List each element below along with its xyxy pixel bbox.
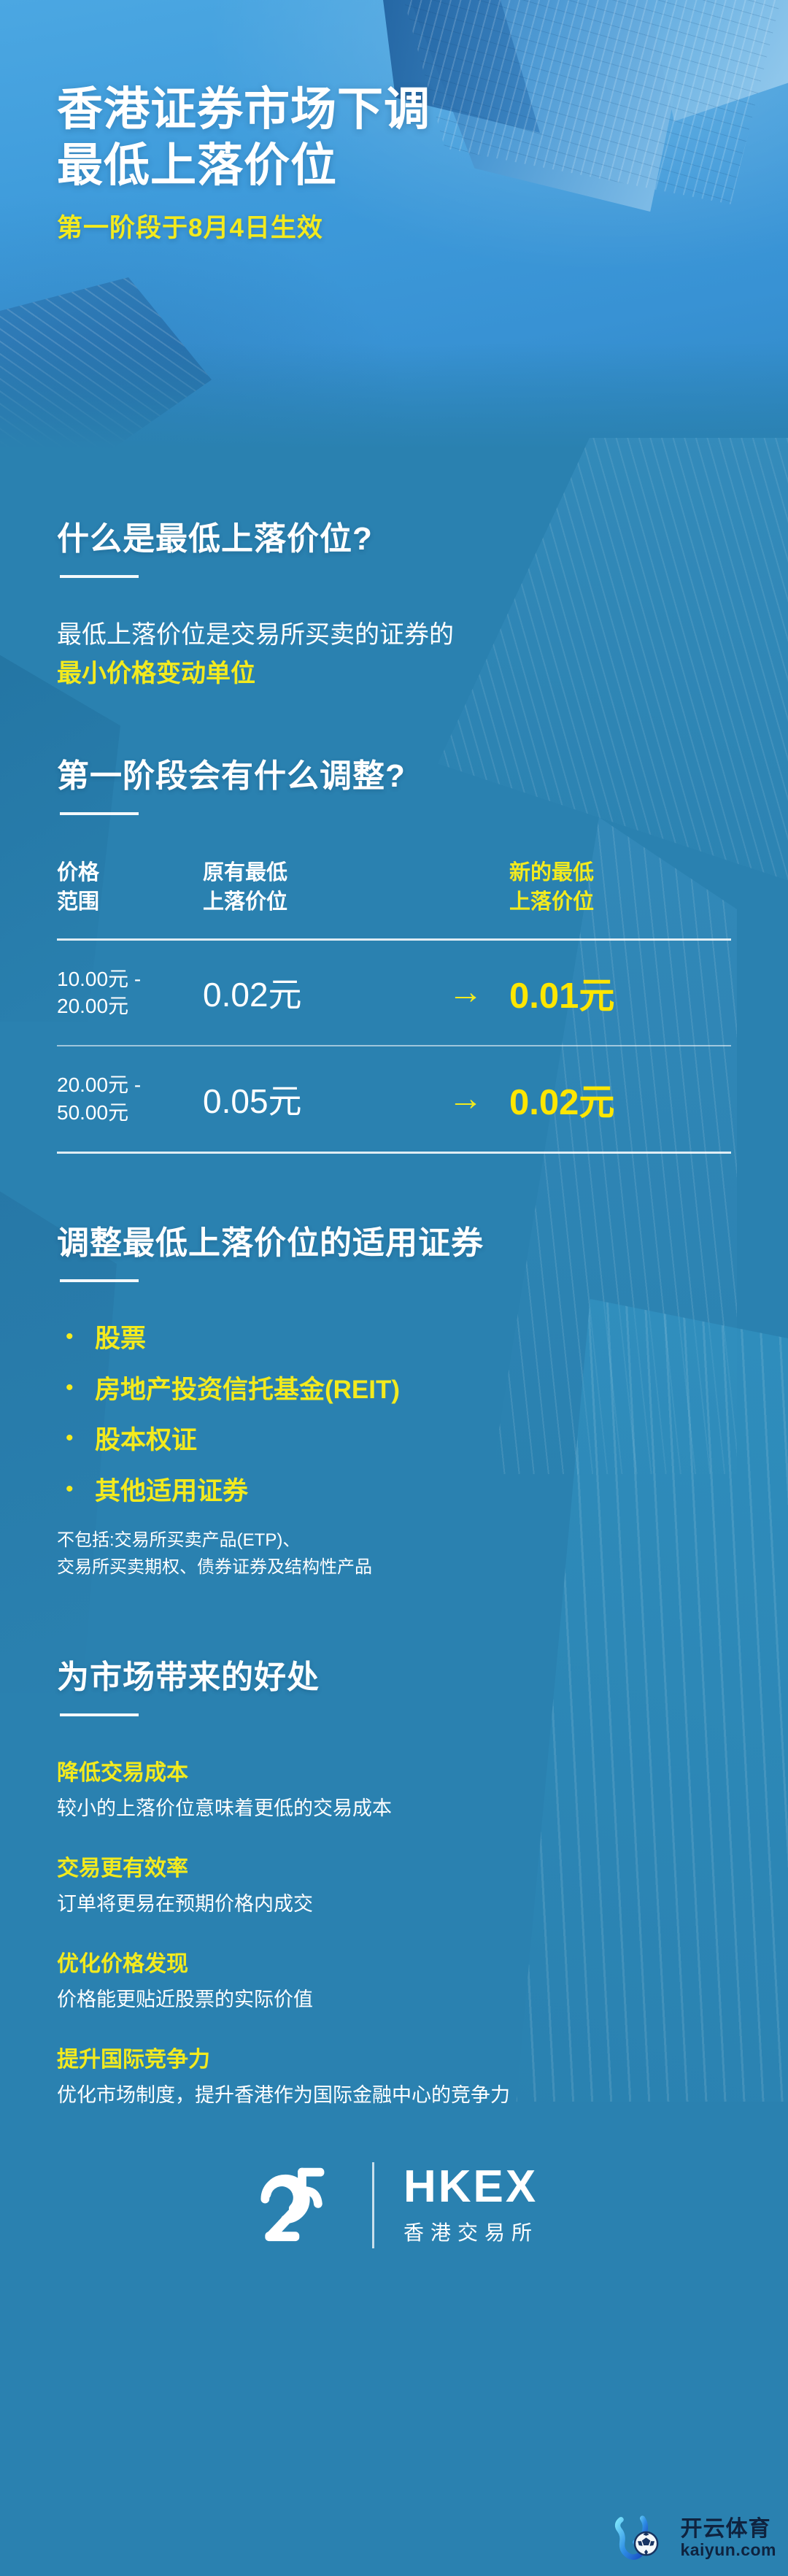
price-adjustment-table: 价格 范围 原有最低 上落价位 新的最低 上落价位 10.00元 - 20.00… — [57, 859, 731, 1153]
col-header-old-line2: 上落价位 — [203, 888, 422, 917]
kaiyun-logo-icon — [611, 2515, 671, 2563]
row-range-line1: 10.00元 - — [57, 965, 203, 993]
exclusion-note: 不包括:交易所买卖产品(ETP)、 交易所买卖期权、债券证券及结构性产品 — [57, 1527, 731, 1581]
exclusion-note-line1: 不包括:交易所买卖产品(ETP)、 — [57, 1527, 731, 1554]
col-header-range-line1: 价格 — [57, 859, 203, 887]
list-item: • 房地产投资信托基金(REIT) — [57, 1374, 731, 1406]
applicable-list: • 股票 • 房地产投资信托基金(REIT) • 股本权证 • 其他适用证券 — [57, 1323, 731, 1508]
bullet-dot-icon: • — [57, 1323, 95, 1351]
row-new-value: 0.02元 — [509, 1073, 731, 1125]
row-range-cell: 10.00元 - 20.00元 — [57, 965, 203, 1021]
arrow-right-icon: → — [448, 1081, 483, 1117]
col-header-range-line2: 范围 — [57, 888, 203, 917]
benefits-list: 降低交易成本 较小的上落价位意味着更低的交易成本 交易更有效率 订单将更易在预期… — [57, 1754, 731, 2108]
benefit-description: 较小的上落价位意味着更低的交易成本 — [57, 1792, 731, 1821]
list-item-label: 其他适用证券 — [95, 1476, 248, 1508]
watermark-brand-cn: 开云体育 — [680, 2518, 776, 2541]
table-row: 20.00元 - 50.00元 0.05元 → 0.02元 — [57, 1046, 731, 1152]
what-is-lead-line1: 最低上落价位是交易所买卖的证券的 — [57, 621, 454, 649]
heading-rule — [60, 1713, 139, 1716]
arrow-right-icon: → — [448, 975, 483, 1010]
row-new-value-cell: 0.02元 — [509, 1073, 731, 1125]
table-col-header-range: 价格 范围 — [57, 859, 203, 916]
benefit-item: 优化价格发现 价格能更贴近股票的实际价值 — [57, 1946, 731, 2012]
benefits-heading: 为市场带来的好处 — [57, 1651, 731, 1697]
list-item-label: 股票 — [95, 1323, 146, 1355]
row-old-value-cell: 0.02元 — [203, 968, 422, 1017]
table-header-row: 价格 范围 原有最低 上落价位 新的最低 上落价位 — [57, 859, 731, 938]
benefit-description: 优化市场制度，提升香港作为国际金融中心的竞争力 — [57, 2079, 731, 2108]
anniversary-25-logo-icon — [250, 2159, 343, 2252]
row-new-value-cell: 0.01元 — [509, 967, 731, 1019]
hkex-brand-cn: 香港交易所 — [403, 2217, 538, 2246]
main-content: 什么是最低上落价位? 最低上落价位是交易所买卖的证券的 最小价格变动单位 第一阶… — [0, 467, 788, 2252]
benefit-title: 优化价格发现 — [57, 1946, 731, 1978]
footer-logo-block: HKEX 香港交易所 — [57, 2159, 731, 2252]
phase-1-heading: 第一阶段会有什么调整? — [57, 749, 731, 796]
row-range-line2: 20.00元 — [57, 992, 203, 1020]
bullet-dot-icon: • — [57, 1476, 95, 1503]
col-header-new-line1: 新的最低 — [509, 859, 731, 887]
list-item-label: 房地产投资信托基金(REIT) — [95, 1374, 400, 1406]
row-arrow-cell: → — [422, 975, 509, 1010]
exclusion-note-line2: 交易所买卖期权、债券证券及结构性产品 — [57, 1554, 731, 1581]
row-old-value-cell: 0.05元 — [203, 1075, 422, 1123]
list-item: • 股票 — [57, 1323, 731, 1355]
col-header-old-line1: 原有最低 — [203, 859, 422, 887]
bullet-dot-icon: • — [57, 1424, 95, 1452]
row-old-value: 0.02元 — [203, 968, 422, 1017]
benefit-title: 降低交易成本 — [57, 1754, 731, 1786]
table-col-header-old: 原有最低 上落价位 — [203, 859, 422, 916]
heading-rule — [60, 812, 139, 815]
list-item: • 股本权证 — [57, 1424, 731, 1457]
watermark-kaiyun: 开云体育 kaiyun.com — [611, 2515, 776, 2563]
benefit-description: 价格能更贴近股票的实际价值 — [57, 1983, 731, 2012]
table-row: 10.00元 - 20.00元 0.02元 → 0.01元 — [57, 941, 731, 1046]
hkex-brand-text: HKEX — [403, 2164, 538, 2210]
section-what-is: 什么是最低上落价位? 最低上落价位是交易所买卖的证券的 最小价格变动单位 — [57, 467, 731, 693]
col-header-new-line2: 上落价位 — [509, 888, 731, 917]
watermark-brand-en: kaiyun.com — [680, 2540, 776, 2560]
bullet-dot-icon: • — [57, 1374, 95, 1402]
what-is-heading: 什么是最低上落价位? — [57, 512, 731, 559]
what-is-lead: 最低上落价位是交易所买卖的证券的 最小价格变动单位 — [57, 616, 731, 693]
applicable-heading: 调整最低上落价位的适用证券 — [57, 1216, 731, 1263]
heading-rule — [60, 1279, 139, 1282]
benefit-item: 交易更有效率 订单将更易在预期价格内成交 — [57, 1850, 731, 1916]
what-is-lead-highlight: 最小价格变动单位 — [57, 655, 731, 693]
list-item: • 其他适用证券 — [57, 1476, 731, 1508]
hero-subtitle: 第一阶段于8月4日生效 — [57, 207, 430, 244]
section-applicable-securities: 调整最低上落价位的适用证券 • 股票 • 房地产投资信托基金(REIT) • 股… — [57, 1154, 731, 1581]
table-col-header-new: 新的最低 上落价位 — [509, 859, 731, 916]
hero-text-block: 香港证券市场下调 最低上落价位 第一阶段于8月4日生效 — [57, 82, 430, 244]
footer-divider — [372, 2162, 374, 2248]
row-range-line2: 50.00元 — [57, 1099, 203, 1127]
watermark-text: 开云体育 kaiyun.com — [680, 2518, 776, 2561]
benefit-description: 订单将更易在预期价格内成交 — [57, 1888, 731, 1916]
row-new-value: 0.01元 — [509, 967, 731, 1019]
heading-rule — [60, 575, 139, 578]
hero-banner: 香港证券市场下调 最低上落价位 第一阶段于8月4日生效 — [0, 0, 788, 467]
hkex-wordmark: HKEX — [403, 2164, 538, 2210]
benefit-item: 降低交易成本 较小的上落价位意味着更低的交易成本 — [57, 1754, 731, 1821]
hero-title-line-2: 最低上落价位 — [57, 138, 430, 194]
benefit-item: 提升国际竞争力 优化市场制度，提升香港作为国际金融中心的竞争力 — [57, 2041, 731, 2108]
row-old-value: 0.05元 — [203, 1075, 422, 1123]
section-phase-1: 第一阶段会有什么调整? 价格 范围 原有最低 上落价位 新的最低 上落价位 — [57, 693, 731, 1153]
row-arrow-cell: → — [422, 1081, 509, 1117]
section-benefits: 为市场带来的好处 降低交易成本 较小的上落价位意味着更低的交易成本 交易更有效率… — [57, 1581, 731, 2108]
list-item-label: 股本权证 — [95, 1424, 197, 1457]
hkex-logo: HKEX 香港交易所 — [403, 2164, 538, 2246]
benefit-title: 交易更有效率 — [57, 1850, 731, 1882]
hero-title-line-1: 香港证券市场下调 — [57, 82, 430, 138]
benefit-title: 提升国际竞争力 — [57, 2041, 731, 2073]
row-range-cell: 20.00元 - 50.00元 — [57, 1071, 203, 1127]
row-range-line1: 20.00元 - — [57, 1071, 203, 1099]
